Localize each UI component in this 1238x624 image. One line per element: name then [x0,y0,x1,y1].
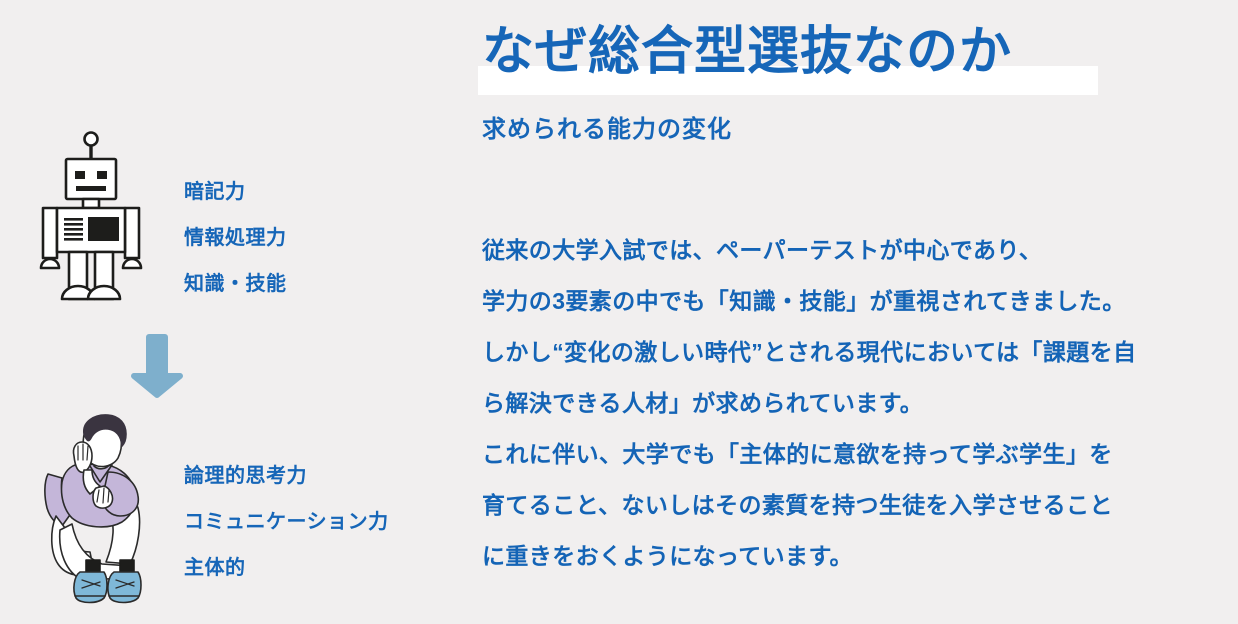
slide-canvas: 暗記力 情報処理力 知識・技能 [0,0,1238,624]
skill-label: 主体的 [184,558,389,578]
skill-label: 論理的思考力 [184,466,389,486]
body-line: 学力の3要素の中でも「知識・技能」が重視されてきました。 [482,276,1230,327]
skill-label: 暗記力 [184,182,287,202]
skill-label: 情報処理力 [184,228,287,248]
seated-person-illustration [42,412,176,608]
after-skills-list: 論理的思考力 コミュニケーション力 主体的 [184,466,389,578]
body-paragraph: 従来の大学入試では、ペーパーテストが中心であり、 学力の3要素の中でも「知識・技… [482,225,1230,582]
before-skills-list: 暗記力 情報処理力 知識・技能 [184,182,287,294]
skills-comparison-column: 暗記力 情報処理力 知識・技能 [0,0,470,624]
skill-label: 知識・技能 [184,274,287,294]
page-subtitle: 求められる能力の変化 [482,118,732,142]
body-line: これに伴い、大学でも「主体的に意欲を持って学ぶ学生」を [482,429,1230,480]
body-line: しかし“変化の激しい時代”とされる現代においては「課題を自 [482,327,1230,378]
skill-label: コミュニケーション力 [184,512,389,532]
body-line: に重きをおくようになっています。 [482,531,1230,582]
body-line: ら解決できる人材」が求められています。 [482,378,1230,429]
content-column: なぜ総合型選抜なのか 求められる能力の変化 従来の大学入試では、ペーパーテストが… [478,0,1238,624]
title-block: なぜ総合型選抜なのか [478,24,1018,96]
page-title: なぜ総合型選抜なのか [478,24,1018,80]
arrow-down-icon [126,330,188,402]
robot-illustration [28,126,154,314]
body-line: 育てること、ないしはその素質を持つ生徒を入学させること [482,480,1230,531]
body-line: 従来の大学入試では、ペーパーテストが中心であり、 [482,225,1230,276]
